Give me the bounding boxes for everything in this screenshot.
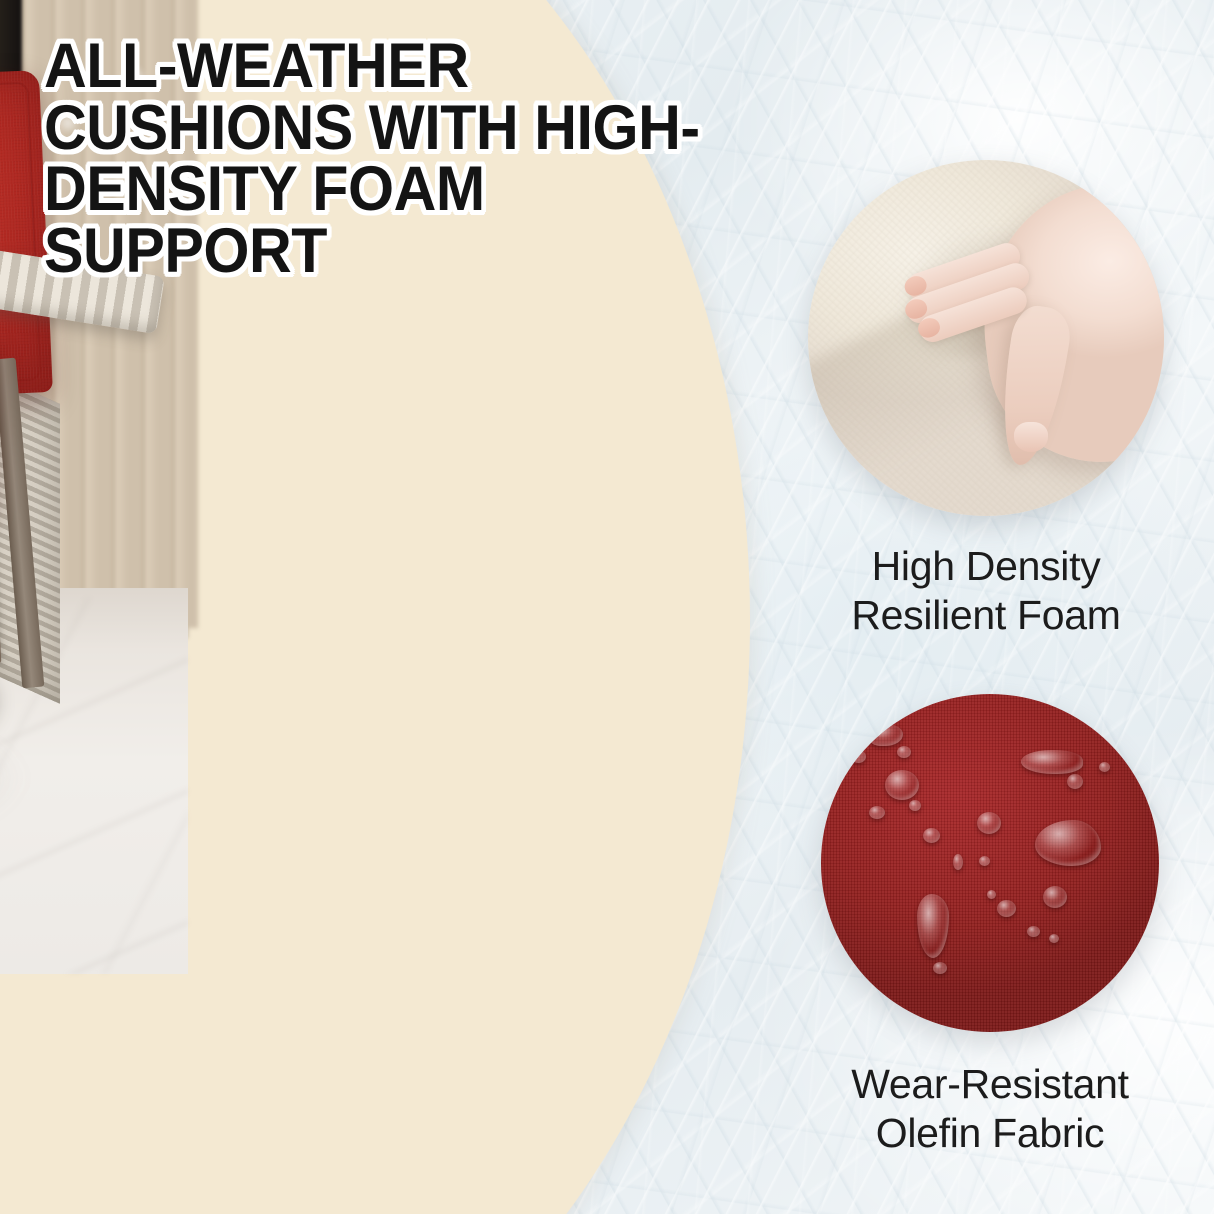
fabric-photo-circle [821, 694, 1159, 1032]
feature-caption-fabric: Wear-Resistant Olefin Fabric [780, 1060, 1200, 1158]
water-drop [909, 800, 921, 811]
water-drop [1067, 774, 1083, 789]
water-drop-elongated [1021, 750, 1083, 774]
headline: ALL-WEATHER CUSHIONS WITH HIGH- DENSITY … [44, 36, 758, 283]
feature-high-density-foam: High Density Resilient Foam [776, 160, 1196, 640]
water-drop [987, 890, 996, 899]
thumb-nail [1014, 422, 1048, 452]
feature-wear-resistant-fabric: Wear-Resistant Olefin Fabric [780, 694, 1200, 1158]
water-drop [851, 750, 866, 763]
water-drop-large [1035, 820, 1101, 866]
foam-caption-line-1: High Density [776, 542, 1196, 591]
water-drop [869, 806, 885, 819]
water-drop [933, 962, 947, 974]
water-drop [1027, 926, 1040, 937]
water-drop [979, 856, 990, 866]
foam-photo-circle [808, 160, 1164, 516]
water-drop [1049, 934, 1059, 943]
water-drop [953, 854, 963, 870]
water-drop [885, 770, 919, 800]
water-drop [923, 828, 940, 843]
foam-caption-line-2: Resilient Foam [776, 591, 1196, 640]
water-drop [1043, 886, 1067, 908]
infographic-canvas: ALL-WEATHER CUSHIONS WITH HIGH- DENSITY … [0, 0, 1214, 1214]
fabric-caption-line-1: Wear-Resistant [780, 1060, 1200, 1109]
water-drop [977, 812, 1001, 834]
feature-caption-foam: High Density Resilient Foam [776, 542, 1196, 640]
fabric-weave-texture [821, 694, 1159, 1032]
headline-line-2: DENSITY FOAM SUPPORT [44, 159, 758, 282]
water-drop [897, 746, 911, 758]
water-drop [1099, 762, 1110, 772]
headline-line-1: ALL-WEATHER CUSHIONS WITH HIGH- [44, 36, 758, 159]
fabric-caption-line-2: Olefin Fabric [780, 1109, 1200, 1158]
water-drop [997, 900, 1016, 917]
